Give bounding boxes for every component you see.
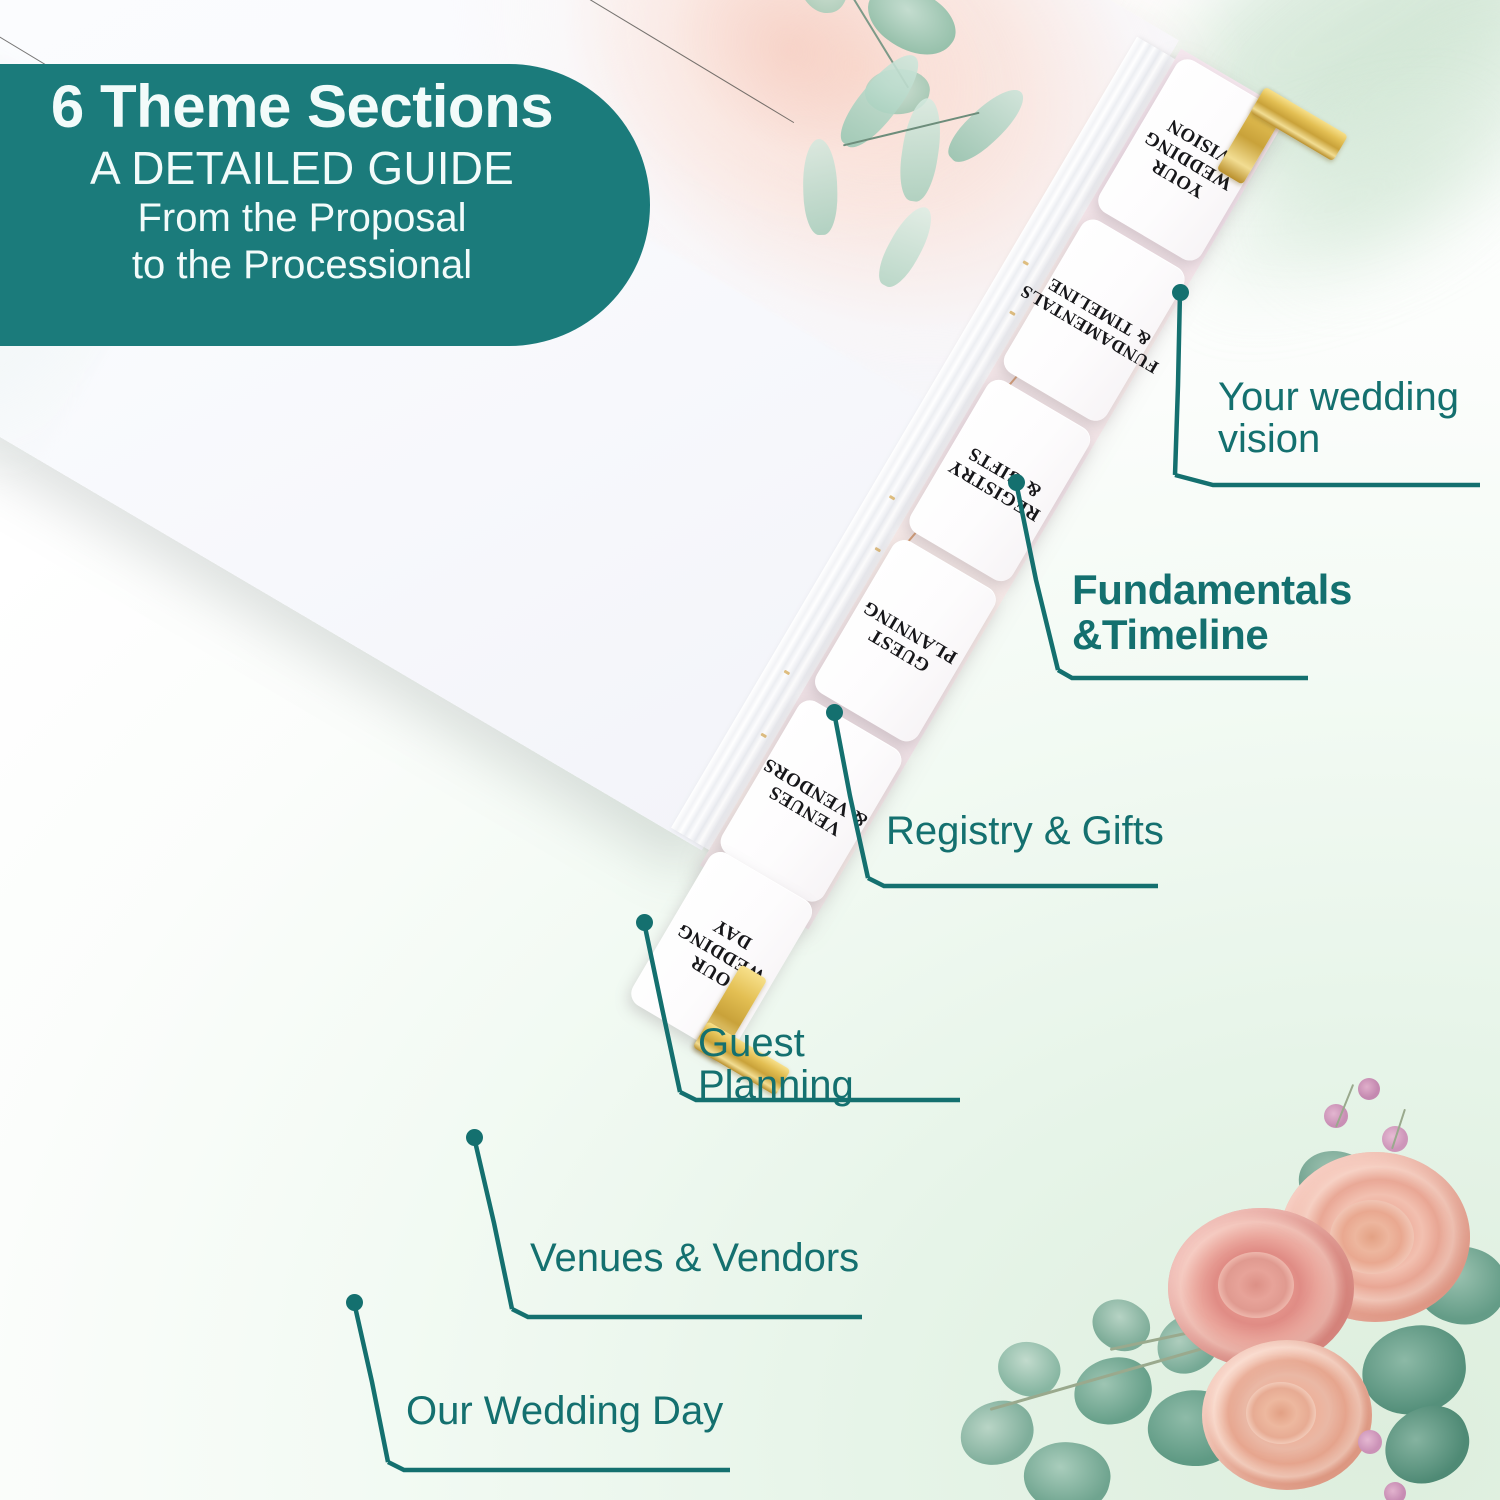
promo-banner: 6 Theme Sections A DETAILED GUIDE From t… (0, 64, 650, 346)
callout-fundamentals-timeline: Fundamentals &Timeline (990, 470, 1320, 690)
callout-marker-dot (636, 914, 653, 931)
callout-label: Our Wedding Day (406, 1390, 723, 1432)
flower-bud (1358, 1078, 1380, 1100)
callout-label: Fundamentals &Timeline (1072, 568, 1352, 657)
eucalyptus-leaf (1018, 1434, 1117, 1500)
callout-marker-dot (1172, 284, 1189, 301)
banner-line-1: From the Proposal (30, 197, 620, 240)
banner-line-2: to the Processional (30, 244, 620, 287)
banner-headline: 6 Theme Sections (30, 76, 620, 137)
callout-label: Registry & Gifts (886, 810, 1164, 852)
flower-bud (1384, 1482, 1406, 1500)
leader-line (810, 700, 1170, 895)
floral-bouquet-decoration (980, 1090, 1500, 1500)
callout-marker-dot (826, 704, 843, 721)
flower-bud (1358, 1430, 1382, 1454)
product-marketing-image: THE WEDDING OF ℮ (0, 0, 1500, 1500)
callout-marker-dot (1008, 474, 1025, 491)
eucalyptus-leaf (1083, 1288, 1159, 1362)
banner-subhead: A DETAILED GUIDE (30, 145, 620, 193)
leader-line (330, 1290, 750, 1480)
callout-guest-planning: Guest Planning (620, 910, 970, 1110)
divider-tab-label: GUEST PLANNING (849, 596, 961, 686)
callout-label: Venues & Vendors (530, 1237, 859, 1279)
callout-label: Guest Planning (698, 1022, 970, 1107)
callout-label: Your wedding vision (1218, 376, 1459, 461)
rose-center (1246, 1382, 1316, 1444)
divider-tab-label: FUNDAMENTALS & TIMELINE (1016, 263, 1171, 377)
rose-center (1218, 1252, 1294, 1318)
sage-leaf (1358, 1321, 1471, 1419)
callout-marker-dot (466, 1129, 483, 1146)
callout-registry-gifts: Registry & Gifts (810, 700, 1170, 895)
callout-your-wedding-vision: Your wedding vision (1150, 280, 1500, 500)
callout-marker-dot (346, 1294, 363, 1311)
callout-our-wedding-day: Our Wedding Day (330, 1290, 750, 1480)
